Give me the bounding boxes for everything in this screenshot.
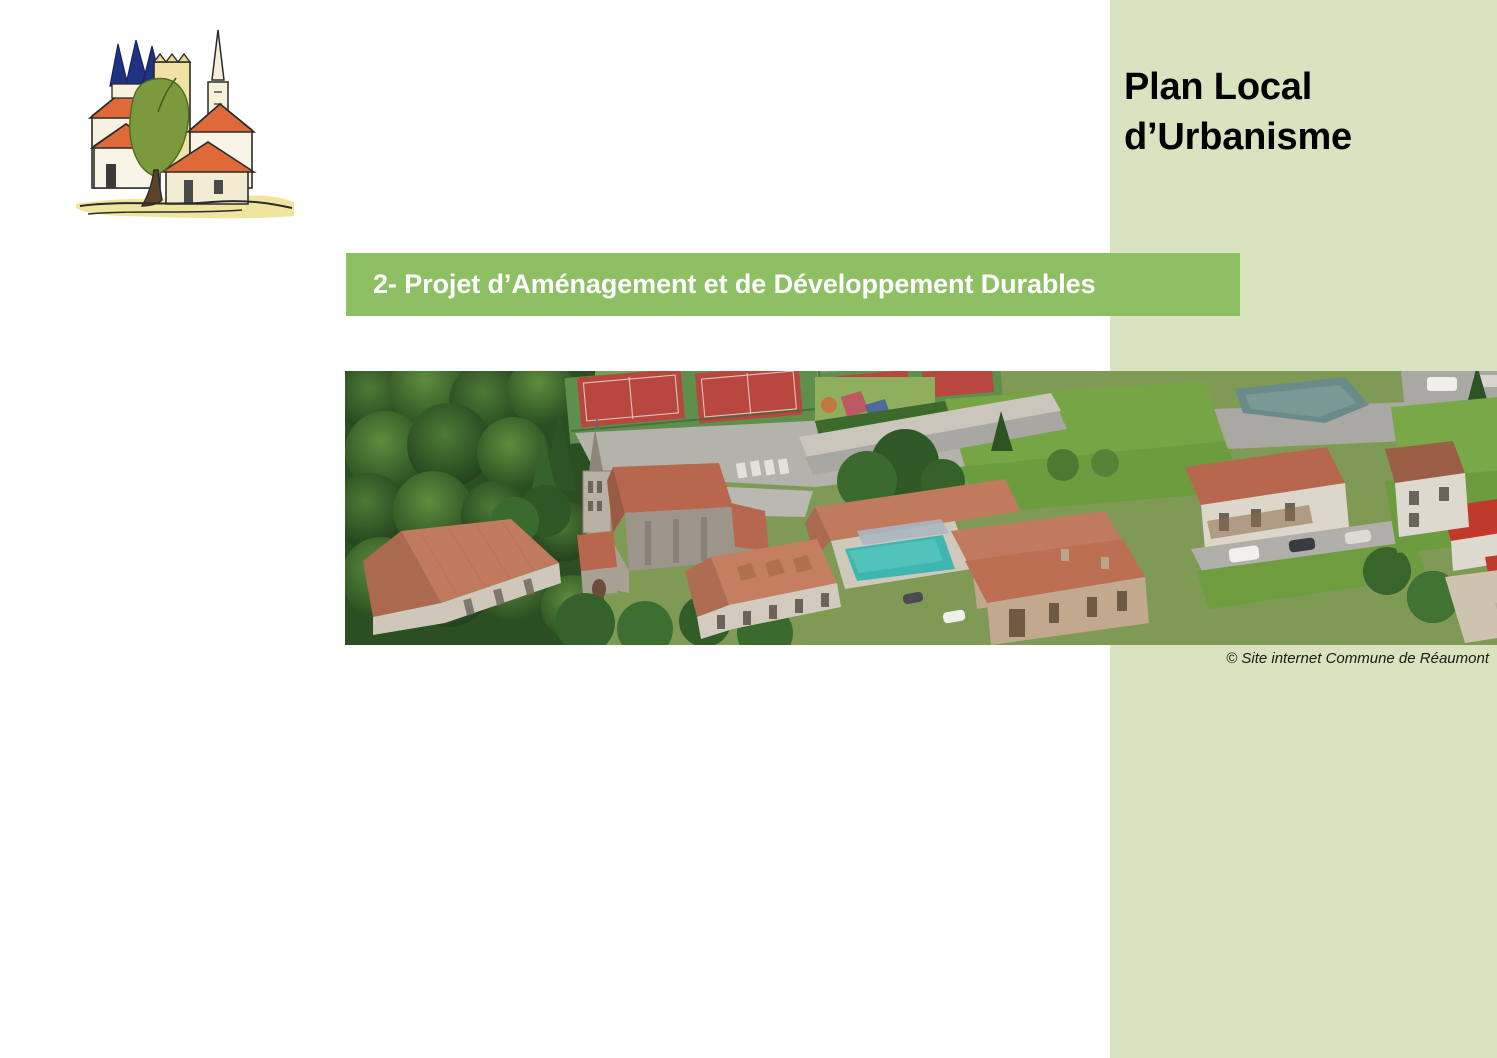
commune-logo xyxy=(62,20,302,228)
page-title-line-1: Plan Local xyxy=(1124,62,1454,112)
section-banner-label: 2- Projet d’Aménagement et de Développem… xyxy=(346,269,1095,300)
photo-credit: © Site internet Commune de Réaumont xyxy=(1226,650,1489,667)
page-title: Plan Local d’Urbanisme xyxy=(1124,62,1454,162)
aerial-photo xyxy=(345,371,1497,645)
section-banner: 2- Projet d’Aménagement et de Développem… xyxy=(346,253,1240,316)
page-title-line-2: d’Urbanisme xyxy=(1124,112,1454,162)
